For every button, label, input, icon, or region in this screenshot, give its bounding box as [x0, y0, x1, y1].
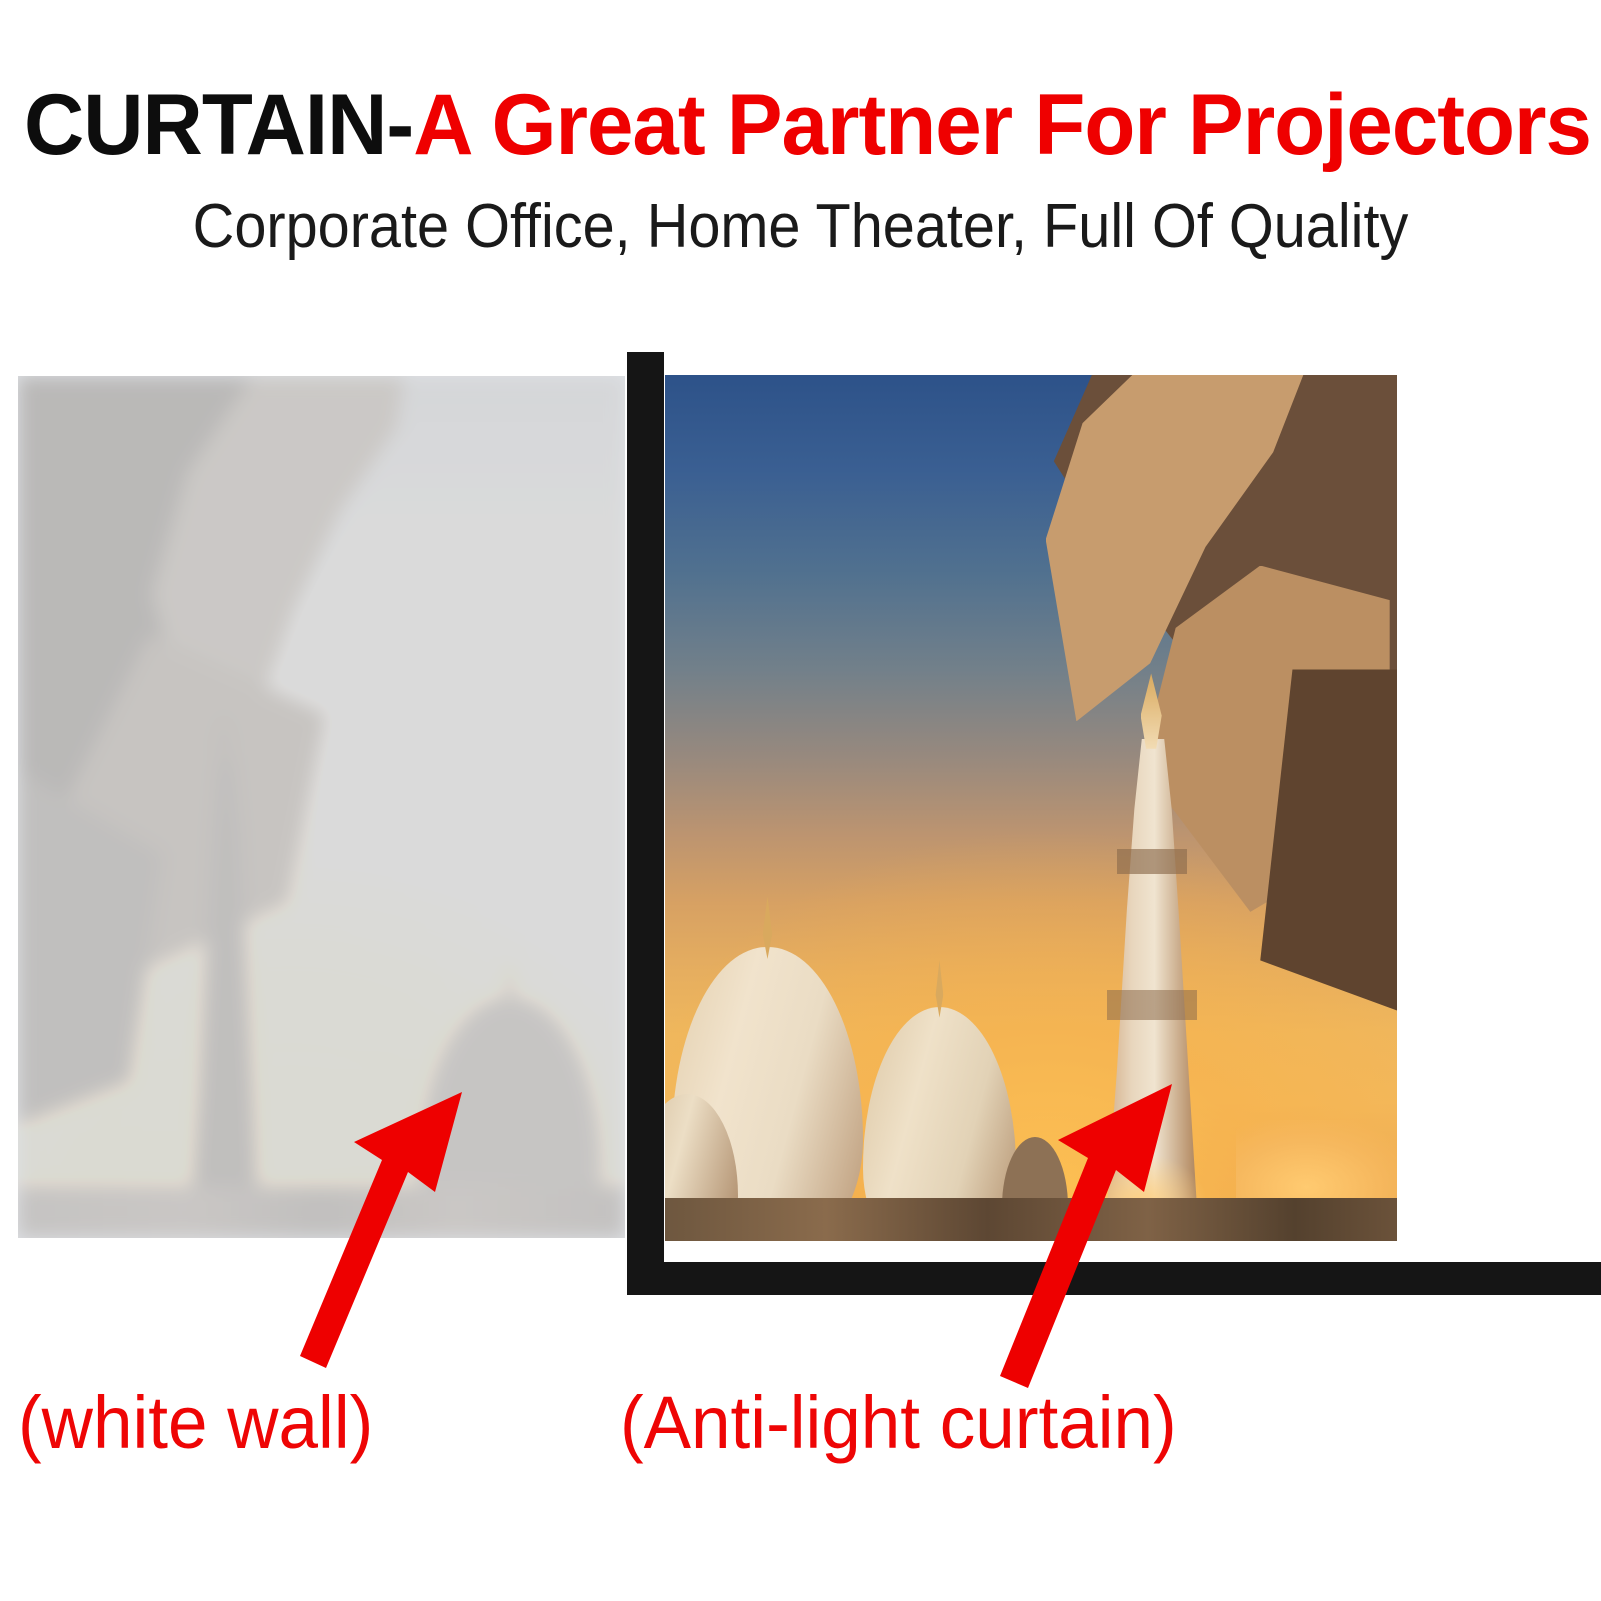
comparison-stage: (white wall) (Anti-light curtain)	[0, 0, 1601, 1601]
white-wall-caption: (white wall)	[18, 1386, 373, 1460]
minaret-lower-balcony	[1107, 990, 1197, 1020]
curtain-frame-left-bar	[627, 352, 664, 1295]
curtain-callout-arrow	[930, 1070, 1230, 1400]
white-wall-callout-arrow	[230, 1080, 500, 1380]
minaret-balcony	[1117, 849, 1187, 874]
anti-light-curtain-caption: (Anti-light curtain)	[620, 1386, 1177, 1460]
